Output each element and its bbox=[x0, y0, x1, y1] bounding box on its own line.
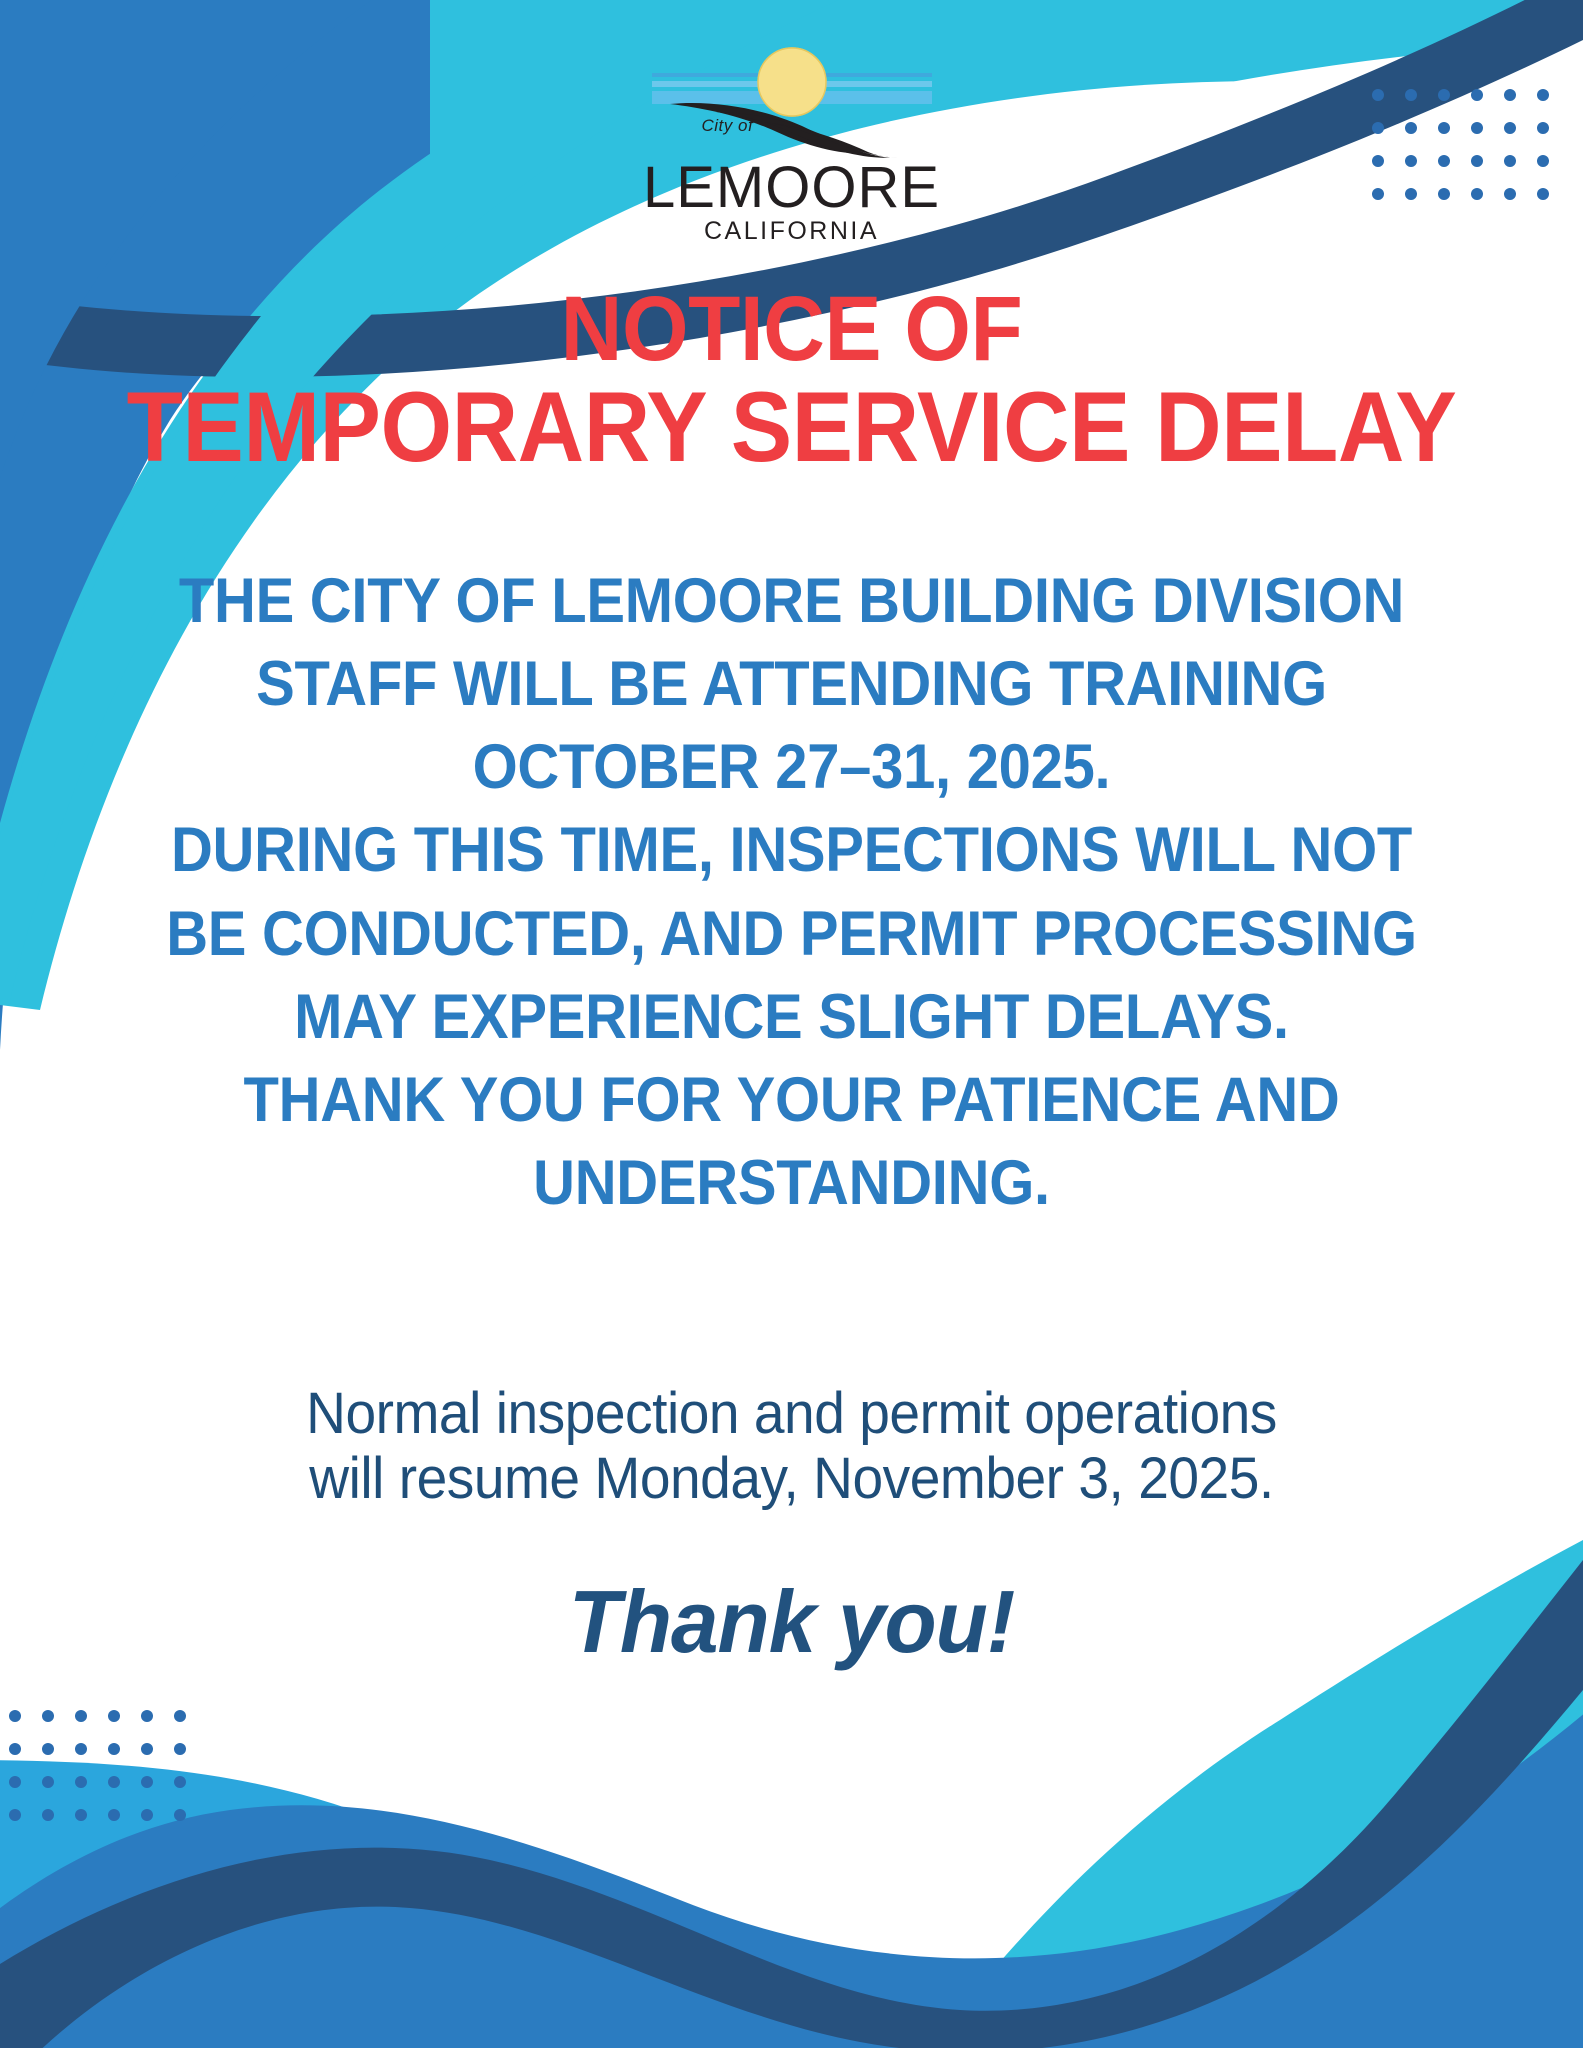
page-title: NOTICE OF TEMPORARY SERVICE DELAY bbox=[93, 283, 1491, 478]
logo-city-name: LEMOORE bbox=[643, 160, 940, 215]
notice-body-line: OCTOBER 27–31, 2025. bbox=[84, 726, 1500, 809]
logo-city-of-label: City of bbox=[702, 116, 754, 136]
notice-body-line: UNDERSTANDING. bbox=[84, 1142, 1500, 1225]
notice-body-line: THANK YOU FOR YOUR PATIENCE AND bbox=[84, 1059, 1500, 1142]
city-logo: City of LEMOORE CALIFORNIA bbox=[0, 38, 1583, 246]
notice-body-line: BE CONDUCTED, AND PERMIT PROCESSING bbox=[84, 893, 1500, 976]
resume-note: Normal inspection and permit operations … bbox=[97, 1382, 1487, 1512]
lemoore-seal-icon: City of bbox=[642, 38, 942, 158]
logo-state-name: CALIFORNIA bbox=[704, 217, 879, 246]
notice-body: THE CITY OF LEMOORE BUILDING DIVISION ST… bbox=[84, 560, 1500, 1225]
notice-body-line: MAY EXPERIENCE SLIGHT DELAYS. bbox=[84, 976, 1500, 1059]
resume-note-line-2: will resume Monday, November 3, 2025. bbox=[97, 1447, 1487, 1512]
signoff-thank-you: Thank you! bbox=[24, 1571, 1560, 1673]
resume-note-line-1: Normal inspection and permit operations bbox=[97, 1382, 1487, 1447]
headline-line-1: NOTICE OF bbox=[93, 283, 1491, 377]
poster-canvas: City of LEMOORE CALIFORNIA NOTICE OF TEM… bbox=[0, 0, 1583, 2048]
notice-body-line: DURING THIS TIME, INSPECTIONS WILL NOT bbox=[84, 809, 1500, 892]
notice-body-line: THE CITY OF LEMOORE BUILDING DIVISION bbox=[84, 560, 1500, 643]
headline-line-2: TEMPORARY SERVICE DELAY bbox=[93, 377, 1491, 478]
notice-body-line: STAFF WILL BE ATTENDING TRAINING bbox=[84, 643, 1500, 726]
